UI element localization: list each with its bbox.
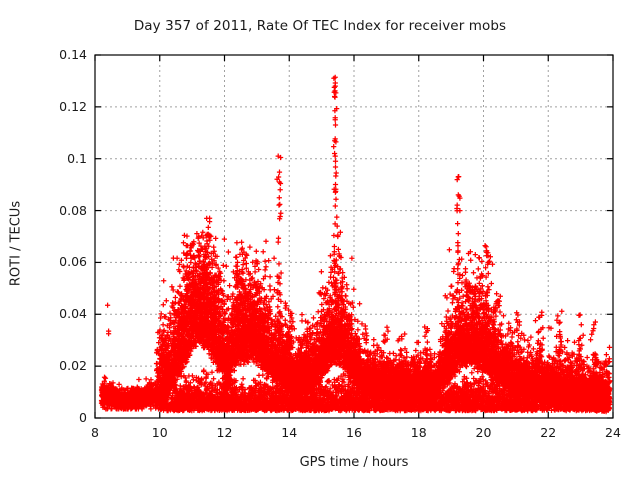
data-points bbox=[99, 75, 612, 415]
plot-canvas bbox=[0, 0, 640, 480]
x-tick-label: 24 bbox=[593, 427, 633, 440]
y-tick-label: 0.04 bbox=[27, 308, 87, 321]
x-tick-label: 12 bbox=[205, 427, 245, 440]
plot-figure: Day 357 of 2011, Rate Of TEC Index for r… bbox=[0, 0, 640, 480]
y-tick-label: 0.08 bbox=[27, 205, 87, 218]
y-tick-label: 0.1 bbox=[27, 153, 87, 166]
x-tick-label: 10 bbox=[140, 427, 180, 440]
y-tick-label: 0.12 bbox=[27, 101, 87, 114]
x-tick-label: 8 bbox=[75, 427, 115, 440]
x-tick-label: 14 bbox=[269, 427, 309, 440]
x-tick-label: 16 bbox=[334, 427, 374, 440]
x-tick-label: 22 bbox=[528, 427, 568, 440]
y-tick-label: 0.06 bbox=[27, 256, 87, 269]
y-tick-label: 0.02 bbox=[27, 360, 87, 373]
y-tick-label: 0.14 bbox=[27, 49, 87, 62]
x-tick-label: 18 bbox=[399, 427, 439, 440]
x-tick-label: 20 bbox=[464, 427, 504, 440]
y-tick-label: 0 bbox=[27, 412, 87, 425]
